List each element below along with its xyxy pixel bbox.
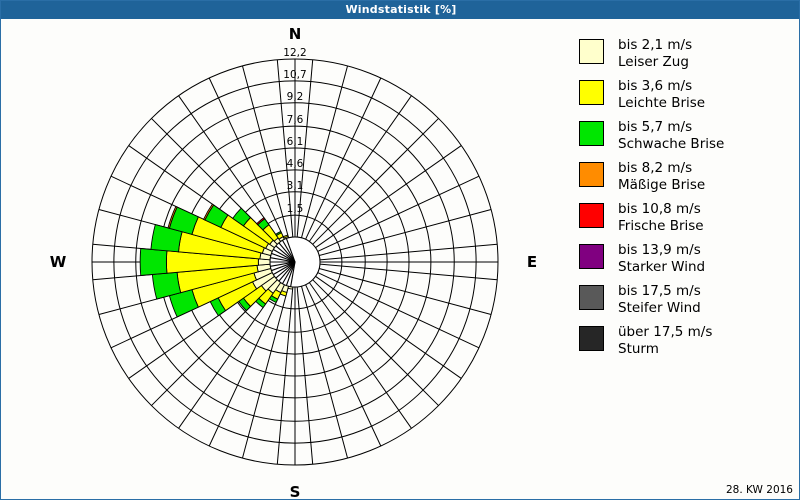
legend-item[interactable]: bis 13,9 m/s Starker Wind	[579, 242, 797, 276]
radial-tick-label: 4,6	[287, 158, 304, 170]
legend-name: Frische Brise	[618, 218, 704, 235]
legend-swatch	[579, 80, 604, 105]
legend-speed: über 17,5 m/s	[618, 324, 712, 341]
legend-name: Steifer Wind	[618, 300, 701, 317]
grid-spoke	[319, 209, 491, 255]
grid-spoke	[318, 273, 479, 348]
window-title: Windstatistik [%]	[1, 1, 800, 19]
grid-spoke	[242, 286, 288, 458]
legend-name: Mäßige Brise	[618, 177, 705, 194]
legend-item[interactable]: über 17,5 m/s Sturm	[579, 324, 797, 358]
legend-swatch	[579, 203, 604, 228]
legend-label: bis 5,7 m/s Schwache Brise	[618, 119, 724, 153]
compass-label-east: E	[527, 253, 537, 271]
legend-label: bis 2,1 m/s Leiser Zug	[618, 37, 692, 71]
legend-swatch	[579, 121, 604, 146]
legend-name: Starker Wind	[618, 259, 705, 276]
grid-spoke	[301, 66, 347, 238]
legend-name: Leiser Zug	[618, 54, 692, 71]
radial-tick-label: 6,1	[287, 136, 304, 148]
grid-spoke	[319, 268, 491, 314]
legend-label: bis 3,6 m/s Leichte Brise	[618, 78, 705, 112]
legend-speed: bis 5,7 m/s	[618, 119, 724, 136]
legend-swatch	[579, 39, 604, 64]
grid-spoke	[318, 176, 479, 251]
grid-spoke	[313, 280, 439, 406]
grid-spoke	[306, 78, 381, 239]
legend-label: bis 8,2 m/s Mäßige Brise	[618, 160, 705, 194]
legend: bis 2,1 m/s Leiser Zug bis 3,6 m/s Leich…	[579, 37, 797, 365]
legend-speed: bis 13,9 m/s	[618, 242, 705, 259]
legend-item[interactable]: bis 8,2 m/s Mäßige Brise	[579, 160, 797, 194]
legend-speed: bis 2,1 m/s	[618, 37, 692, 54]
legend-item[interactable]: bis 17,5 m/s Steifer Wind	[579, 283, 797, 317]
legend-item[interactable]: bis 2,1 m/s Leiser Zug	[579, 37, 797, 71]
legend-swatch	[579, 162, 604, 187]
grid-spoke	[309, 282, 411, 428]
legend-name: Leichte Brise	[618, 95, 705, 112]
legend-speed: bis 17,5 m/s	[618, 283, 701, 300]
legend-swatch	[579, 244, 604, 269]
radial-tick-label: 12,2	[283, 47, 306, 59]
legend-swatch	[579, 326, 604, 351]
grid-spoke	[301, 286, 347, 458]
legend-item[interactable]: bis 5,7 m/s Schwache Brise	[579, 119, 797, 153]
legend-speed: bis 10,8 m/s	[618, 201, 704, 218]
grid-spoke	[306, 285, 381, 446]
radial-tick-label: 7,6	[287, 114, 304, 126]
radial-tick-label: 10,7	[283, 69, 306, 81]
radial-tick-label: 1,5	[287, 203, 304, 215]
legend-item[interactable]: bis 10,8 m/s Frische Brise	[579, 201, 797, 235]
grid-spoke	[309, 96, 411, 242]
grid-spoke	[313, 118, 439, 244]
content-area: 1,53,14,66,17,69,210,712,2 NESW bis 2,1 …	[1, 19, 800, 500]
calendar-week-note: 28. KW 2016	[726, 484, 793, 496]
legend-speed: bis 3,6 m/s	[618, 78, 705, 95]
wind-rose-chart: 1,53,14,66,17,69,210,712,2 NESW	[1, 19, 571, 500]
legend-label: über 17,5 m/s Sturm	[618, 324, 712, 358]
grid-spoke	[315, 146, 461, 248]
wind-rose-segment	[140, 249, 167, 276]
legend-label: bis 17,5 m/s Steifer Wind	[618, 283, 701, 317]
legend-item[interactable]: bis 3,6 m/s Leichte Brise	[579, 78, 797, 112]
legend-speed: bis 8,2 m/s	[618, 160, 705, 177]
compass-label-north: N	[289, 25, 302, 43]
grid-spoke	[315, 276, 461, 378]
legend-label: bis 13,9 m/s Starker Wind	[618, 242, 705, 276]
radial-tick-label: 9,2	[287, 91, 304, 103]
legend-swatch	[579, 285, 604, 310]
windstatistik-window: Windstatistik [%] 1,53,14,66,17,69,210,7…	[0, 0, 800, 500]
grid-spoke	[242, 66, 288, 238]
legend-name: Schwache Brise	[618, 136, 724, 153]
calm-center-disc	[270, 237, 320, 287]
compass-label-south: S	[290, 483, 301, 500]
legend-label: bis 10,8 m/s Frische Brise	[618, 201, 704, 235]
wind-rose-svg: 1,53,14,66,17,69,210,712,2 NESW	[1, 19, 571, 500]
radial-tick-label: 3,1	[287, 180, 304, 192]
compass-label-west: W	[50, 253, 67, 271]
legend-name: Sturm	[618, 341, 712, 358]
